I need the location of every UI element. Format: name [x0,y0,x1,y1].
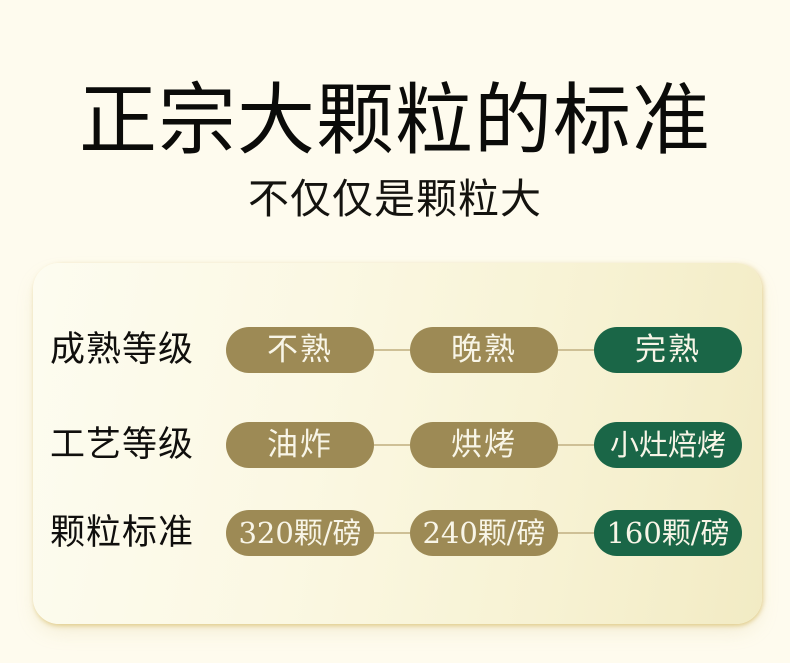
pill-process-3[interactable]: 小灶焙烤 [594,422,742,468]
pill-granule-1[interactable]: 320颗/磅 [226,510,374,556]
pill-connector [374,444,410,446]
standards-card: 成熟等级 不熟 晚熟 完熟 工艺等级 油炸 [33,263,762,624]
pill-process-2[interactable]: 烘烤 [410,422,558,468]
promo-page: 正宗大颗粒的标准 不仅仅是颗粒大 成熟等级 不熟 晚熟 完熟 工艺等 [0,0,790,663]
standard-row-granule: 颗粒标准 320颗/磅 240颗/磅 160颗/磅 [33,510,762,556]
standard-row-ripeness: 成熟等级 不熟 晚熟 完熟 [33,327,762,373]
pill-label: 160颗/磅 [606,510,729,556]
page-title: 正宗大颗粒的标准 [0,76,790,166]
pill-connector [374,532,410,534]
pill-process-1[interactable]: 油炸 [226,422,374,468]
pill-label: 完熟 [635,327,701,373]
row-label-ripeness: 成熟等级 [50,327,228,373]
pill-ripeness-1[interactable]: 不熟 [226,327,374,373]
pill-connector [558,444,594,446]
standard-row-process: 工艺等级 油炸 烘烤 小灶焙烤 [33,422,762,468]
pill-label: 不熟 [267,327,333,373]
pill-ripeness-3[interactable]: 完熟 [594,327,742,373]
pill-granule-2[interactable]: 240颗/磅 [410,510,558,556]
pill-label: 小灶焙烤 [610,422,726,468]
pill-connector [558,532,594,534]
row-label-process: 工艺等级 [50,422,228,468]
pill-track-ripeness: 不熟 晚熟 完熟 [226,327,742,373]
pill-label: 320颗/磅 [238,510,361,556]
pill-connector [374,349,410,351]
pill-label: 晚熟 [451,327,517,373]
pill-ripeness-2[interactable]: 晚熟 [410,327,558,373]
page-subtitle: 不仅仅是颗粒大 [0,174,790,224]
row-label-granule: 颗粒标准 [50,510,228,556]
pill-label: 油炸 [267,422,333,468]
pill-label: 240颗/磅 [422,510,545,556]
pill-label: 烘烤 [451,422,517,468]
pill-granule-3[interactable]: 160颗/磅 [594,510,742,556]
pill-track-process: 油炸 烘烤 小灶焙烤 [226,422,742,468]
pill-connector [558,349,594,351]
pill-track-granule: 320颗/磅 240颗/磅 160颗/磅 [226,510,742,556]
